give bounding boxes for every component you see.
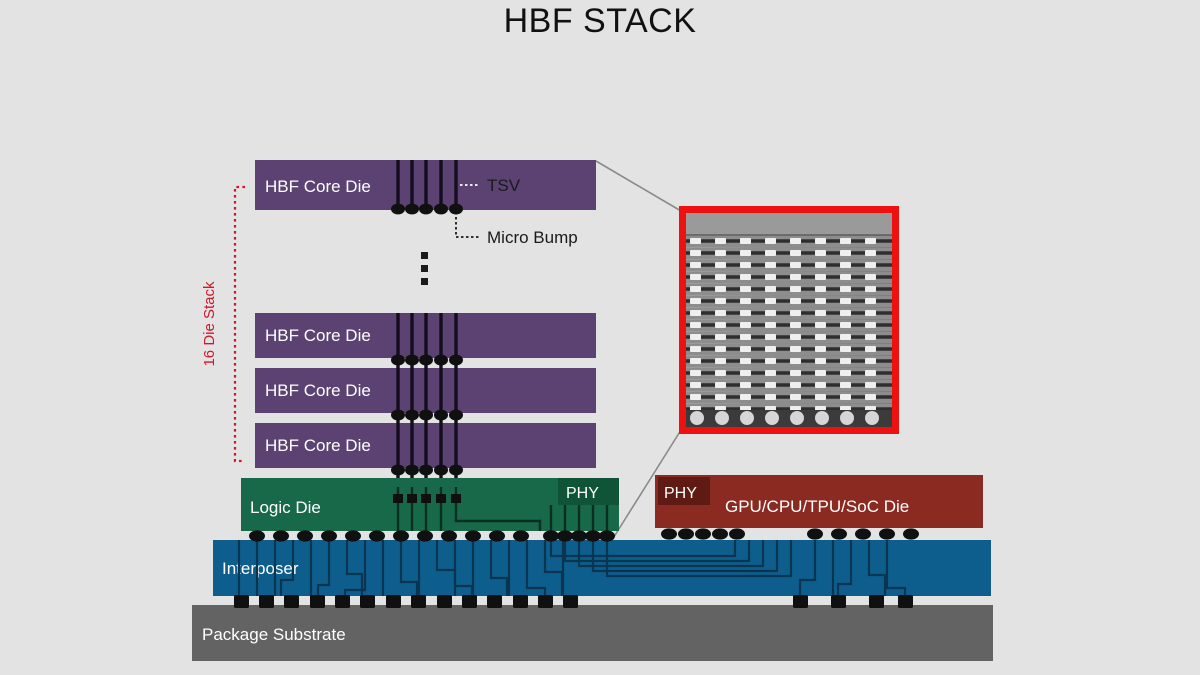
die-stack-bracket-label: 16 Die Stack <box>201 281 218 367</box>
soc-die-label: GPU/CPU/TPU/SoC Die <box>725 497 909 516</box>
micro-bumps-top-die <box>391 204 463 215</box>
core-die-3-label: HBF Core Die <box>265 381 371 400</box>
diagram-canvas: HBF STACK HBF Core Die TSV <box>0 0 1200 675</box>
sem-inset-content <box>686 213 892 427</box>
sem-inset-photo <box>679 206 899 434</box>
core-die-top-label: HBF Core Die <box>265 177 371 196</box>
vertical-ellipsis-icon <box>421 252 428 285</box>
micro-bump-callout-label: Micro Bump <box>487 228 578 247</box>
interposer-top-bumps-right <box>661 528 919 539</box>
interposer-top-bumps-left <box>249 530 615 541</box>
package-substrate: Package Substrate <box>192 605 993 661</box>
logic-die-label: Logic Die <box>250 498 321 517</box>
core-die-2-label: HBF Core Die <box>265 326 371 345</box>
hbf-stack-diagram: HBF Core Die TSV Micro Bump <box>0 0 1200 675</box>
micro-bump-callout: Micro Bump <box>456 212 578 247</box>
soc-die: PHY GPU/CPU/TPU/SoC Die <box>655 475 983 528</box>
core-die-4-label: HBF Core Die <box>265 436 371 455</box>
tsv-callout-label: TSV <box>487 176 521 195</box>
soc-die-phy-label: PHY <box>664 485 697 502</box>
interposer-label: Interposer <box>222 559 299 578</box>
package-substrate-label: Package Substrate <box>202 625 346 644</box>
logic-die-phy-label: PHY <box>566 485 599 502</box>
die-stack-bracket: 16 Die Stack <box>201 187 245 461</box>
sem-die-layers <box>686 236 892 421</box>
logic-die: PHY Logic Die <box>241 478 619 531</box>
